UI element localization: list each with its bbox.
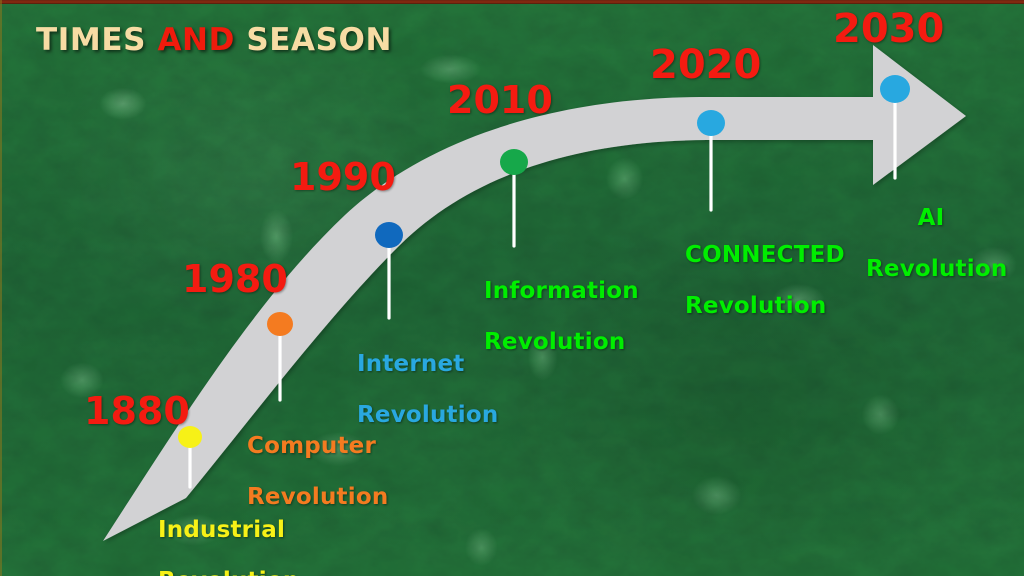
label-connected-line1: CONNECTED [685,243,845,269]
year-label-1990: 1990 [290,156,396,199]
label-connected-revolution: CONNECTED Revolution [685,217,845,346]
dot-connected[interactable] [697,110,725,136]
year-label-1880: 1880 [84,390,190,433]
slide-canvas: TIMES AND SEASON 1880 1980 1990 2010 202… [0,0,1024,576]
label-information-revolution: Information Revolution [484,253,639,382]
label-computer-line2: Revolution [247,485,388,511]
dot-information[interactable] [500,149,528,175]
year-label-2030: 2030 [833,7,944,52]
label-ai-revolution: AI Revolution [866,180,996,309]
label-information-line1: Information [484,279,639,305]
label-information-line2: Revolution [484,330,639,356]
label-ai-line2: Revolution [866,257,996,283]
label-internet-line1: Internet [357,352,498,378]
dot-ai[interactable] [880,75,910,103]
label-ai-line1: AI [866,206,996,232]
label-connected-line2: Revolution [685,294,845,320]
year-label-1980: 1980 [182,258,288,301]
year-label-2010: 2010 [447,79,553,122]
title-part-times: TIMES [36,22,157,58]
dot-computer[interactable] [267,312,293,336]
title-part-and: AND [157,22,246,58]
page-title: TIMES AND SEASON [36,22,392,58]
dot-internet[interactable] [375,222,403,248]
title-part-season: SEASON [246,22,392,58]
top-edge-strip [0,0,1024,4]
label-internet-revolution: Internet Revolution [357,326,498,455]
label-internet-line2: Revolution [357,403,498,429]
label-industrial-line2: Revolution [158,569,299,576]
left-edge-strip [0,0,2,576]
year-label-2020: 2020 [650,43,761,88]
